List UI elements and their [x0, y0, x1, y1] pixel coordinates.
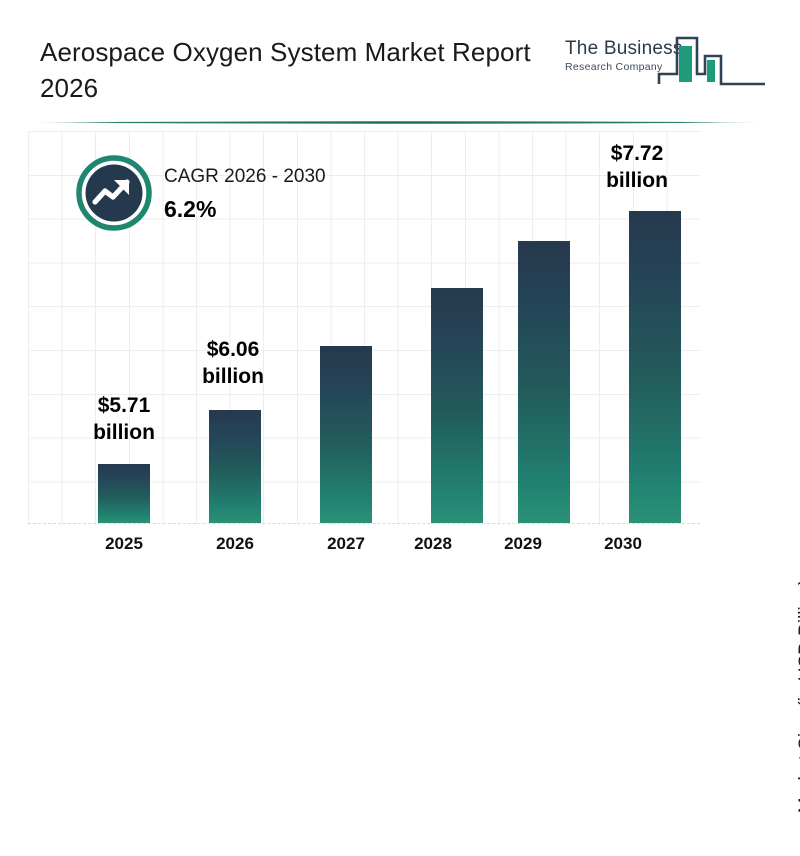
- value-label-2030-amount: $7.72: [577, 140, 697, 167]
- value-label-2026: $6.06 billion: [173, 336, 293, 390]
- cagr-text-block: CAGR 2026 - 2030 6.2%: [164, 166, 326, 223]
- bar-2030[interactable]: [629, 211, 681, 523]
- x-tick-2029: 2029: [478, 534, 568, 554]
- cagr-value-label: 6.2%: [164, 196, 326, 223]
- x-axis-baseline: [28, 523, 700, 524]
- header-divider: [28, 120, 772, 125]
- bar-2026[interactable]: [209, 410, 261, 523]
- value-label-2025-unit: billion: [64, 419, 184, 446]
- value-label-2030-unit: billion: [577, 167, 697, 194]
- value-label-2026-unit: billion: [173, 363, 293, 390]
- bar-2029[interactable]: [518, 241, 570, 523]
- value-label-2025: $5.71 billion: [64, 392, 184, 446]
- y-axis-label: Market Size (in USD Billion): [796, 536, 800, 856]
- value-label-2026-amount: $6.06: [173, 336, 293, 363]
- x-tick-2025: 2025: [79, 534, 169, 554]
- report-header: Aerospace Oxygen System Market Report 20…: [0, 0, 800, 122]
- x-tick-2027: 2027: [301, 534, 391, 554]
- bar-chart-logo-mark: [657, 30, 769, 92]
- bar-2027[interactable]: [320, 346, 372, 523]
- company-logo: The Business Research Company: [563, 30, 768, 100]
- value-label-2030: $7.72 billion: [577, 140, 697, 194]
- page-title: Aerospace Oxygen System Market Report 20…: [40, 34, 560, 106]
- bar-2025[interactable]: [98, 464, 150, 523]
- cagr-range-label: CAGR 2026 - 2030: [164, 166, 326, 188]
- bar-2028[interactable]: [431, 288, 483, 523]
- cagr-badge-icon: [76, 155, 152, 231]
- x-tick-2028: 2028: [388, 534, 478, 554]
- x-tick-2026: 2026: [190, 534, 280, 554]
- x-tick-2030: 2030: [578, 534, 668, 554]
- value-label-2025-amount: $5.71: [64, 392, 184, 419]
